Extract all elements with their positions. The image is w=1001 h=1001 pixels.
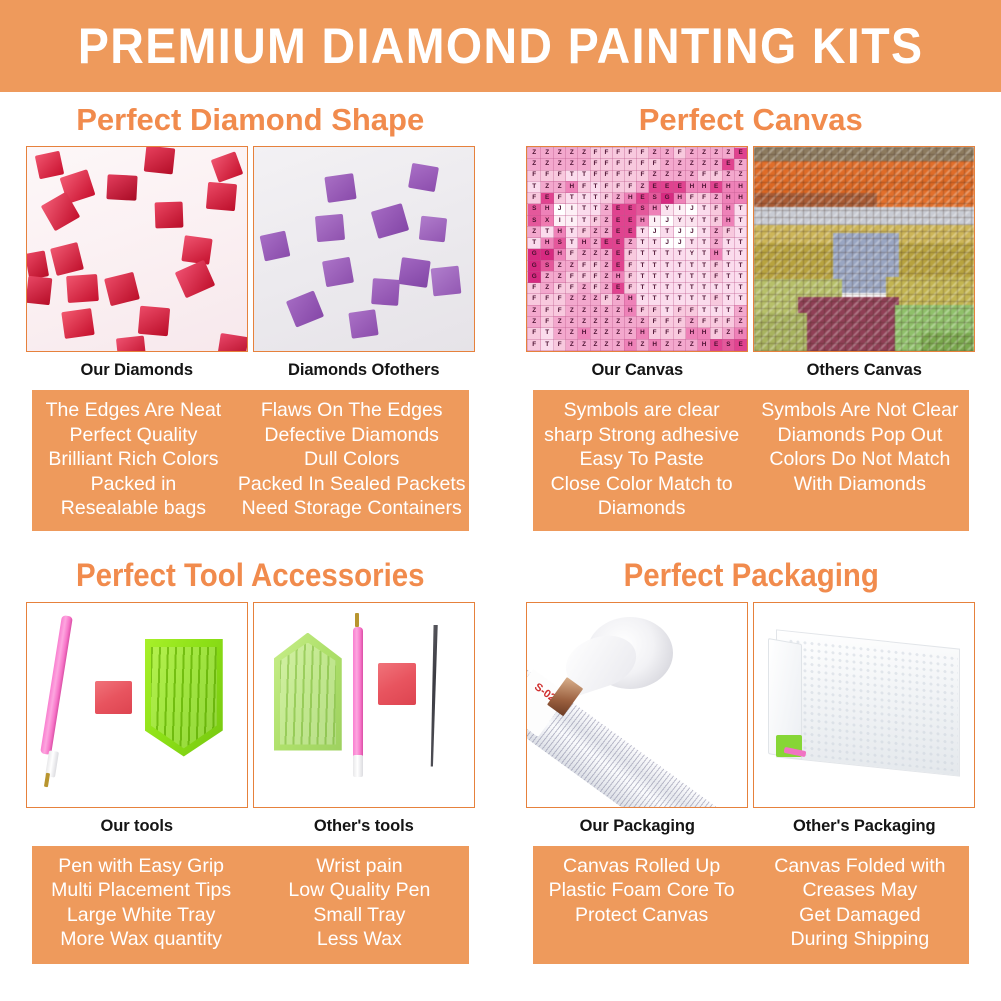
canvas-symbol-cell: Z bbox=[686, 159, 698, 170]
canvas-symbol-cell: F bbox=[528, 294, 541, 305]
canvas-symbol-cell: Z bbox=[590, 328, 601, 339]
canvas-symbol-cell: Y bbox=[674, 215, 686, 226]
page-header-banner: PREMIUM DIAMOND PAINTING KITS bbox=[0, 0, 1001, 92]
canvas-symbol-cell: E bbox=[601, 238, 612, 249]
canvas-symbol-cell: F bbox=[674, 316, 686, 327]
canvas-symbol-cell: Z bbox=[590, 238, 601, 249]
canvas-symbol-cell: Z bbox=[734, 159, 746, 170]
canvas-symbol-cell: F bbox=[710, 294, 722, 305]
canvas-symbol-cell: T bbox=[734, 204, 746, 215]
canvas-symbol-cell: T bbox=[649, 294, 661, 305]
canvas-symbol-cell: G bbox=[528, 260, 541, 271]
card-other-tools: Other's tools bbox=[253, 602, 475, 843]
canvas-symbol-cell: F bbox=[636, 159, 648, 170]
canvas-symbol-cell: T bbox=[566, 238, 578, 249]
section-title-diamond-shape: Perfect Diamond Shape bbox=[0, 92, 501, 146]
canvas-symbol-cell: Z bbox=[590, 226, 601, 237]
canvas-symbol-cell: H bbox=[636, 215, 648, 226]
canvas-symbol-cell: Z bbox=[601, 226, 612, 237]
bullets-others-tools: Wrist pain Low Quality Pen Small Tray Le… bbox=[250, 854, 468, 954]
canvas-symbol-cell: Z bbox=[528, 305, 541, 316]
bullets-ours-diamond-shape: The Edges Are Neat Perfect Quality Brill… bbox=[32, 398, 235, 521]
canvas-symbol-cell: E bbox=[661, 181, 674, 192]
canvas-symbol-cell: F bbox=[710, 215, 722, 226]
canvas-symbol-cell: Z bbox=[566, 316, 578, 327]
canvas-symbol-cell: F bbox=[541, 305, 554, 316]
canvas-symbol-cell: I bbox=[566, 204, 578, 215]
canvas-symbol-cell: Z bbox=[590, 305, 601, 316]
canvas-symbol-cell: Z bbox=[528, 316, 541, 327]
canvas-symbol-cell: F bbox=[528, 339, 541, 350]
canvas-symbol-cell: F bbox=[674, 305, 686, 316]
card-other-packaging: Other's Packaging bbox=[753, 602, 975, 843]
canvas-symbol-row: GZZFFFZHFTTTTTTFTT bbox=[528, 271, 747, 282]
section-title-packaging: Perfect Packaging bbox=[521, 547, 981, 602]
bullets-others-diamond-shape: Flaws On The Edges Defective Diamonds Du… bbox=[235, 398, 469, 521]
canvas-symbol-cell: F bbox=[601, 193, 612, 204]
canvas-symbol-cell: H bbox=[722, 181, 734, 192]
canvas-symbol-cell: T bbox=[566, 193, 578, 204]
canvas-symbol-cell: Z bbox=[528, 226, 541, 237]
canvas-symbol-cell: T bbox=[578, 204, 590, 215]
bullet-line: Close Color Match to bbox=[536, 472, 748, 497]
canvas-symbol-cell: G bbox=[528, 271, 541, 282]
bullet-line: Multi Placement Tips bbox=[35, 878, 247, 903]
canvas-symbol-cell: Z bbox=[649, 170, 661, 181]
canvas-symbol-cell: F bbox=[590, 148, 601, 159]
canvas-symbol-cell: F bbox=[649, 305, 661, 316]
canvas-symbol-cell: J bbox=[686, 226, 698, 237]
canvas-symbol-cell: T bbox=[636, 226, 648, 237]
canvas-symbol-cell: H bbox=[649, 204, 661, 215]
bullet-line: Need Storage Containers bbox=[238, 496, 466, 521]
canvas-symbol-cell: T bbox=[686, 238, 698, 249]
canvas-symbol-cell: Z bbox=[661, 159, 674, 170]
canvas-symbol-cell: T bbox=[698, 283, 710, 294]
card-pair-packaging: S-021 Our Packaging bbox=[501, 602, 1001, 843]
canvas-symbol-cell: F bbox=[710, 328, 722, 339]
canvas-symbol-cell: Z bbox=[686, 148, 698, 159]
canvas-symbol-cell: F bbox=[686, 305, 698, 316]
bullets-ours-packaging: Canvas Rolled Up Plastic Foam Core To Pr… bbox=[533, 854, 751, 954]
canvas-symbol-cell: T bbox=[674, 249, 686, 260]
canvas-symbol-row: THSTHZEEZTTJJTTZTT bbox=[528, 238, 747, 249]
canvas-symbol-cell: Z bbox=[578, 316, 590, 327]
canvas-symbol-cell: Z bbox=[541, 159, 554, 170]
canvas-symbol-cell: F bbox=[624, 170, 636, 181]
bullet-line: Small Tray bbox=[253, 903, 465, 928]
canvas-symbol-cell: I bbox=[649, 215, 661, 226]
canvas-symbol-cell: Z bbox=[636, 181, 648, 192]
canvas-symbol-cell: Z bbox=[578, 249, 590, 260]
canvas-symbol-cell: T bbox=[636, 283, 648, 294]
canvas-symbol-cell: F bbox=[612, 159, 624, 170]
canvas-symbol-cell: F bbox=[566, 283, 578, 294]
canvas-symbol-cell: F bbox=[578, 271, 590, 282]
canvas-symbol-cell: Z bbox=[686, 339, 698, 350]
canvas-symbol-cell: H bbox=[698, 181, 710, 192]
canvas-symbol-cell: S bbox=[649, 193, 661, 204]
canvas-symbol-cell: F bbox=[554, 305, 566, 316]
canvas-symbol-cell: T bbox=[636, 238, 648, 249]
canvas-symbol-cell: Z bbox=[590, 339, 601, 350]
canvas-symbol-cell: F bbox=[554, 339, 566, 350]
canvas-symbol-cell: Z bbox=[566, 328, 578, 339]
canvas-symbol-cell: H bbox=[636, 328, 648, 339]
canvas-symbol-cell: S bbox=[636, 204, 648, 215]
canvas-symbol-cell: Z bbox=[710, 148, 722, 159]
canvas-symbol-cell: E bbox=[612, 204, 624, 215]
canvas-symbol-cell: E bbox=[624, 226, 636, 237]
canvas-symbol-cell: Z bbox=[554, 181, 566, 192]
canvas-symbol-cell: T bbox=[578, 215, 590, 226]
canvas-symbol-cell: Z bbox=[674, 159, 686, 170]
canvas-symbol-cell: F bbox=[590, 215, 601, 226]
canvas-symbol-cell: F bbox=[590, 260, 601, 271]
bullet-line: Get Damaged bbox=[754, 903, 966, 928]
canvas-symbol-cell: S bbox=[554, 238, 566, 249]
canvas-symbol-cell: F bbox=[554, 294, 566, 305]
bullets-canvas: Symbols are clear sharp Strong adhesive … bbox=[533, 390, 970, 531]
canvas-symbol-cell: H bbox=[624, 294, 636, 305]
canvas-symbol-cell: T bbox=[674, 283, 686, 294]
canvas-symbol-cell: F bbox=[710, 271, 722, 282]
section-canvas: Perfect Canvas ZZZZZFFFFFZZFZZZZEZZZZZFF… bbox=[501, 92, 1001, 531]
canvas-symbol-cell: H bbox=[734, 328, 746, 339]
canvas-symbol-cell: F bbox=[624, 283, 636, 294]
bullet-line: Pen with Easy Grip bbox=[35, 854, 247, 879]
canvas-symbol-cell: Z bbox=[624, 328, 636, 339]
canvas-symbol-cell: Z bbox=[624, 316, 636, 327]
canvas-symbol-cell: Z bbox=[601, 305, 612, 316]
canvas-symbol-cell: F bbox=[661, 316, 674, 327]
canvas-symbol-row: SXIITFZEEHIJYYTFHT bbox=[528, 215, 747, 226]
canvas-symbol-cell: Z bbox=[612, 316, 624, 327]
canvas-symbol-cell: Z bbox=[612, 294, 624, 305]
section-title-tools: Perfect Tool Accessories bbox=[20, 547, 480, 602]
canvas-symbol-cell: T bbox=[722, 283, 734, 294]
canvas-symbol-cell: T bbox=[698, 238, 710, 249]
red-square-diamonds-photo bbox=[26, 146, 248, 352]
canvas-symbol-cell: Z bbox=[734, 170, 746, 181]
bullet-line: Canvas Folded with bbox=[754, 854, 966, 879]
canvas-symbol-cell: F bbox=[698, 170, 710, 181]
canvas-symbol-row: GGHFZZZEFTTTTYTHTT bbox=[528, 249, 747, 260]
canvas-symbol-row: FTZZHZZZZHFFFHHFZH bbox=[528, 328, 747, 339]
canvas-symbol-cell: T bbox=[698, 271, 710, 282]
canvas-symbol-cell: F bbox=[612, 170, 624, 181]
canvas-symbol-cell: F bbox=[612, 148, 624, 159]
canvas-symbol-cell: F bbox=[710, 170, 722, 181]
canvas-symbol-cell: Z bbox=[554, 159, 566, 170]
bullet-line: With Diamonds bbox=[754, 472, 966, 497]
canvas-symbol-cell: E bbox=[612, 260, 624, 271]
canvas-symbol-cell: H bbox=[686, 328, 698, 339]
canvas-symbol-row: TZZHFTFFFZEEEHHEHH bbox=[528, 181, 747, 192]
canvas-symbol-cell: H bbox=[554, 249, 566, 260]
canvas-symbol-cell: E bbox=[612, 249, 624, 260]
bullet-line: Wrist pain bbox=[253, 854, 465, 879]
canvas-symbol-cell: T bbox=[722, 260, 734, 271]
canvas-symbol-cell: Z bbox=[554, 271, 566, 282]
canvas-symbol-cell: T bbox=[734, 283, 746, 294]
canvas-symbol-cell: T bbox=[541, 339, 554, 350]
canvas-symbol-row: ZZZZZFFFFFZZFZZZZE bbox=[528, 148, 747, 159]
canvas-symbol-cell: F bbox=[649, 159, 661, 170]
canvas-symbol-cell: F bbox=[624, 148, 636, 159]
canvas-symbol-cell: Z bbox=[566, 305, 578, 316]
canvas-symbol-cell: Z bbox=[601, 271, 612, 282]
canvas-symbol-cell: Z bbox=[661, 170, 674, 181]
canvas-symbol-cell: Z bbox=[566, 339, 578, 350]
canvas-symbol-cell: F bbox=[698, 193, 710, 204]
bullet-line: Resealable bags bbox=[35, 496, 232, 521]
canvas-symbol-cell: T bbox=[661, 226, 674, 237]
card-our-diamonds: Our Diamonds bbox=[26, 146, 248, 387]
canvas-symbol-cell: T bbox=[661, 283, 674, 294]
canvas-symbol-cell: H bbox=[624, 339, 636, 350]
canvas-symbol-row: ZFZZZZZZZZFFFZFFFZ bbox=[528, 316, 747, 327]
card-pair-diamond-shape: Our Diamonds bbox=[0, 146, 501, 387]
canvas-symbol-cell: E bbox=[674, 181, 686, 192]
canvas-symbol-cell: T bbox=[686, 294, 698, 305]
canvas-symbol-cell: T bbox=[566, 226, 578, 237]
canvas-symbol-cell: F bbox=[578, 226, 590, 237]
caption-others-canvas: Others Canvas bbox=[753, 352, 975, 387]
canvas-symbol-row: FFFZZZFZHTTTTTTFTT bbox=[528, 294, 747, 305]
section-diamond-shape: Perfect Diamond Shape bbox=[0, 92, 501, 531]
light-tray-pen-wax-tweezers-photo bbox=[253, 602, 475, 808]
bullet-line: Diamonds Pop Out bbox=[754, 423, 966, 448]
canvas-symbol-cell: H bbox=[624, 193, 636, 204]
canvas-symbol-cell: T bbox=[541, 226, 554, 237]
canvas-symbol-cell: F bbox=[624, 249, 636, 260]
canvas-symbol-cell: Z bbox=[734, 305, 746, 316]
bullet-line: Packed In Sealed Packets bbox=[238, 472, 466, 497]
caption-other-tools: Other's tools bbox=[253, 808, 475, 843]
canvas-symbol-cell: I bbox=[566, 215, 578, 226]
canvas-symbol-cell: Z bbox=[624, 238, 636, 249]
section-packaging: Perfect Packaging S-021 bbox=[501, 547, 1001, 964]
bullet-line: Large White Tray bbox=[35, 903, 247, 928]
canvas-symbol-cell: E bbox=[649, 181, 661, 192]
canvas-symbol-row: FTFZZZZZHZHZZZHESE bbox=[528, 339, 747, 350]
canvas-symbol-cell: Z bbox=[734, 316, 746, 327]
canvas-symbol-row: ZFFZZZZZHFFTFFTTTZ bbox=[528, 305, 747, 316]
page-title: PREMIUM DIAMOND PAINTING KITS bbox=[78, 17, 924, 75]
canvas-symbol-cell: T bbox=[661, 260, 674, 271]
canvas-symbol-cell: E bbox=[636, 193, 648, 204]
canvas-symbol-cell: F bbox=[528, 193, 541, 204]
canvas-symbol-cell: F bbox=[566, 249, 578, 260]
bullet-line: Canvas Rolled Up bbox=[536, 854, 748, 879]
canvas-symbol-cell: H bbox=[578, 328, 590, 339]
section-row-1: Perfect Diamond Shape bbox=[0, 92, 1001, 531]
canvas-symbol-cell: T bbox=[661, 271, 674, 282]
canvas-symbol-cell: H bbox=[541, 204, 554, 215]
canvas-symbol-cell: Z bbox=[601, 260, 612, 271]
canvas-symbol-cell: Z bbox=[541, 181, 554, 192]
caption-our-packaging: Our Packaging bbox=[526, 808, 748, 843]
canvas-symbol-cell: F bbox=[601, 159, 612, 170]
canvas-symbol-cell: F bbox=[578, 181, 590, 192]
canvas-symbol-cell: T bbox=[578, 193, 590, 204]
canvas-symbol-cell: T bbox=[636, 260, 648, 271]
canvas-symbol-cell: F bbox=[541, 294, 554, 305]
canvas-symbol-cell: T bbox=[698, 305, 710, 316]
canvas-symbol-cell: T bbox=[734, 238, 746, 249]
caption-our-diamonds: Our Diamonds bbox=[26, 352, 248, 387]
canvas-symbol-cell: T bbox=[734, 271, 746, 282]
canvas-symbol-cell: Z bbox=[590, 249, 601, 260]
canvas-symbol-cell: T bbox=[649, 283, 661, 294]
folded-canvas-bubble-mailer-photo bbox=[753, 602, 975, 808]
comparison-board: Perfect Diamond Shape bbox=[0, 92, 1001, 964]
canvas-symbol-cell: F bbox=[528, 283, 541, 294]
canvas-symbol-cell: F bbox=[528, 328, 541, 339]
canvas-symbol-cell: T bbox=[686, 271, 698, 282]
canvas-symbol-cell: F bbox=[710, 316, 722, 327]
bullet-line: Brilliant Rich Colors bbox=[35, 447, 232, 472]
canvas-symbol-cell: Z bbox=[722, 170, 734, 181]
canvas-symbol-cell: J bbox=[661, 238, 674, 249]
canvas-symbol-cell: H bbox=[734, 193, 746, 204]
canvas-symbol-cell: E bbox=[624, 215, 636, 226]
canvas-symbol-cell: H bbox=[566, 181, 578, 192]
bullets-others-canvas: Symbols Are Not Clear Diamonds Pop Out C… bbox=[751, 398, 969, 521]
canvas-symbol-cell: F bbox=[590, 283, 601, 294]
canvas-symbol-cell: Z bbox=[554, 328, 566, 339]
canvas-symbol-cell: F bbox=[636, 148, 648, 159]
canvas-symbol-cell: T bbox=[661, 249, 674, 260]
canvas-symbol-cell: T bbox=[674, 271, 686, 282]
canvas-symbol-cell: T bbox=[649, 271, 661, 282]
pink-symbol-canvas-photo: ZZZZZFFFFFZZFZZZZEZZZZZFFFFFFZZZZZEZFFFT… bbox=[526, 146, 748, 352]
canvas-symbol-cell: S bbox=[541, 260, 554, 271]
caption-other-packaging: Other's Packaging bbox=[753, 808, 975, 843]
card-pair-canvas: ZZZZZFFFFFZZFZZZZEZZZZZFFFFFFZZZZZEZFFFT… bbox=[501, 146, 1001, 387]
canvas-symbol-cell: E bbox=[734, 339, 746, 350]
canvas-symbol-cell: J bbox=[649, 226, 661, 237]
canvas-symbol-cell: H bbox=[541, 238, 554, 249]
canvas-symbol-cell: X bbox=[541, 215, 554, 226]
canvas-symbol-cell: G bbox=[541, 249, 554, 260]
canvas-symbol-cell: H bbox=[734, 181, 746, 192]
bullet-line: Dull Colors bbox=[238, 447, 466, 472]
canvas-symbol-cell: T bbox=[710, 305, 722, 316]
canvas-symbol-cell: Z bbox=[710, 226, 722, 237]
canvas-symbol-cell: F bbox=[624, 181, 636, 192]
canvas-symbol-cell: H bbox=[698, 328, 710, 339]
canvas-symbol-cell: E bbox=[624, 204, 636, 215]
canvas-symbol-cell: T bbox=[686, 283, 698, 294]
canvas-symbol-cell: Z bbox=[578, 148, 590, 159]
canvas-symbol-cell: Z bbox=[601, 249, 612, 260]
canvas-symbol-cell: S bbox=[528, 215, 541, 226]
canvas-symbol-cell: T bbox=[698, 215, 710, 226]
canvas-symbol-cell: Y bbox=[661, 204, 674, 215]
canvas-symbol-cell: J bbox=[674, 226, 686, 237]
canvas-symbol-cell: E bbox=[612, 215, 624, 226]
canvas-symbol-cell: F bbox=[612, 181, 624, 192]
card-our-packaging: S-021 Our Packaging bbox=[526, 602, 748, 843]
canvas-symbol-cell: T bbox=[686, 260, 698, 271]
section-tools: Perfect Tool Accessories Our tools bbox=[0, 547, 501, 964]
canvas-symbol-cell: F bbox=[636, 305, 648, 316]
bullets-diamond-shape: The Edges Are Neat Perfect Quality Brill… bbox=[32, 390, 469, 531]
canvas-symbol-cell: H bbox=[710, 249, 722, 260]
canvas-symbol-grid: ZZZZZFFFFFZZFZZZZEZZZZZFFFFFFZZZZZEZFFFT… bbox=[527, 147, 747, 351]
canvas-symbol-cell: Z bbox=[686, 316, 698, 327]
canvas-symbol-cell: H bbox=[722, 204, 734, 215]
bullet-line: Low Quality Pen bbox=[253, 878, 465, 903]
canvas-symbol-cell: T bbox=[590, 181, 601, 192]
canvas-symbol-cell: E bbox=[612, 283, 624, 294]
canvas-symbol-cell: F bbox=[698, 316, 710, 327]
bullets-others-packaging: Canvas Folded with Creases May Get Damag… bbox=[751, 854, 969, 954]
canvas-symbol-cell: Z bbox=[698, 148, 710, 159]
canvas-symbol-cell: T bbox=[734, 226, 746, 237]
canvas-symbol-row: ZZZZZFFFFFFZZZZZEZ bbox=[528, 159, 747, 170]
canvas-symbol-cell: E bbox=[722, 159, 734, 170]
canvas-symbol-cell: E bbox=[734, 148, 746, 159]
canvas-symbol-cell: F bbox=[649, 316, 661, 327]
canvas-symbol-cell: T bbox=[636, 271, 648, 282]
canvas-symbol-cell: J bbox=[661, 215, 674, 226]
canvas-symbol-cell: F bbox=[601, 181, 612, 192]
bullet-line: Less Wax bbox=[253, 927, 465, 952]
bullet-line: Perfect Quality bbox=[35, 423, 232, 448]
canvas-symbol-cell: Z bbox=[636, 339, 648, 350]
bullet-line: Symbols are clear bbox=[536, 398, 748, 423]
bullet-line: Defective Diamonds bbox=[238, 423, 466, 448]
canvas-symbol-cell: Z bbox=[566, 159, 578, 170]
card-other-diamonds: Diamonds Ofothers bbox=[253, 146, 475, 387]
canvas-symbol-cell: Z bbox=[686, 170, 698, 181]
canvas-symbol-cell: Z bbox=[601, 283, 612, 294]
canvas-symbol-cell: T bbox=[541, 328, 554, 339]
canvas-symbol-cell: T bbox=[649, 238, 661, 249]
canvas-symbol-cell: E bbox=[612, 226, 624, 237]
canvas-symbol-cell: Z bbox=[674, 170, 686, 181]
canvas-symbol-cell: H bbox=[674, 193, 686, 204]
canvas-symbol-cell: T bbox=[698, 260, 710, 271]
canvas-symbol-cell: Z bbox=[661, 339, 674, 350]
canvas-symbol-cell: G bbox=[661, 193, 674, 204]
canvas-symbol-cell: T bbox=[698, 226, 710, 237]
caption-our-tools: Our tools bbox=[26, 808, 248, 843]
canvas-symbol-cell: Z bbox=[722, 148, 734, 159]
canvas-symbol-cell: Z bbox=[590, 316, 601, 327]
bullet-line: Symbols Are Not Clear bbox=[754, 398, 966, 423]
canvas-symbol-cell: Z bbox=[601, 328, 612, 339]
canvas-symbol-cell: H bbox=[722, 215, 734, 226]
canvas-symbol-cell: Z bbox=[601, 204, 612, 215]
canvas-symbol-cell: F bbox=[541, 316, 554, 327]
canvas-symbol-cell: Z bbox=[612, 193, 624, 204]
canvas-symbol-cell: Z bbox=[566, 294, 578, 305]
canvas-symbol-cell: F bbox=[674, 328, 686, 339]
canvas-symbol-cell: Z bbox=[528, 159, 541, 170]
bullet-line: Diamonds bbox=[536, 496, 748, 521]
canvas-symbol-cell: Z bbox=[601, 339, 612, 350]
canvas-symbol-cell: T bbox=[734, 249, 746, 260]
canvas-symbol-cell: T bbox=[636, 249, 648, 260]
canvas-symbol-cell: Z bbox=[710, 193, 722, 204]
canvas-symbol-cell: T bbox=[674, 294, 686, 305]
canvas-symbol-cell: T bbox=[674, 260, 686, 271]
canvas-symbol-cell: Y bbox=[686, 249, 698, 260]
